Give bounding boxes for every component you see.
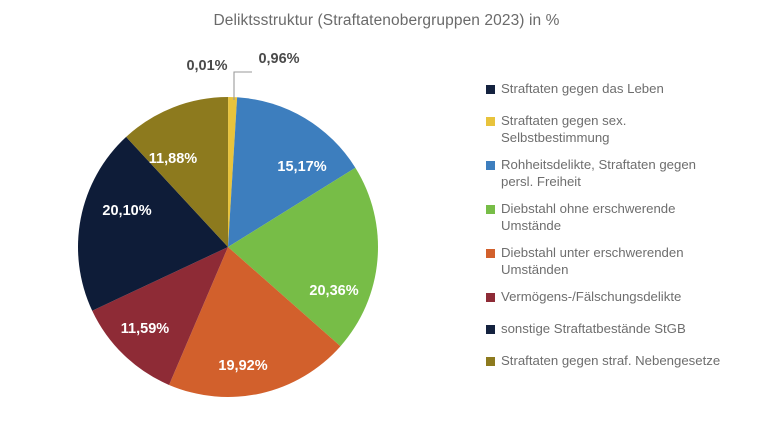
- chart-legend: Straftaten gegen das Leben Straftaten ge…: [486, 80, 771, 384]
- slice-value-label-rohheitsdelikte: 15,17%: [277, 159, 326, 175]
- legend-item[interactable]: Rohheitsdelikte, Straftaten gegen persl.…: [486, 156, 771, 190]
- legend-item-label: Straftaten gegen straf. Nebengesetze: [501, 352, 720, 369]
- legend-swatch-icon: [486, 161, 495, 170]
- pie-plot-area: 15,17% 20,36% 19,92% 11,59% 20,10% 11,88…: [28, 48, 448, 428]
- legend-swatch-icon: [486, 117, 495, 126]
- legend-item-label: Vermögens-/Fälschungsdelikte: [501, 288, 681, 305]
- chart-title: Deliktsstruktur (Straftatenobergruppen 2…: [0, 12, 773, 30]
- pie-slices: [78, 97, 378, 397]
- legend-item[interactable]: Vermögens-/Fälschungsdelikte: [486, 288, 771, 310]
- slice-value-label-vermoegens: 11,59%: [121, 321, 169, 337]
- slice-value-label-sonstige-stgb: 20,10%: [102, 203, 151, 219]
- legend-item[interactable]: Diebstahl ohne erschwerende Umstände: [486, 200, 771, 234]
- slice-value-label-diebstahl-ohne: 20,36%: [309, 283, 358, 299]
- legend-item-label: Straftaten gegen sex. Selbstbestimmung: [501, 112, 626, 146]
- slice-value-label-diebstahl-unter: 19,92%: [218, 358, 267, 374]
- legend-item[interactable]: sonstige Straftatbestände StGB: [486, 320, 771, 342]
- legend-item-label: Diebstahl unter erschwerenden Umständen: [501, 244, 684, 278]
- pie-svg: 15,17% 20,36% 19,92% 11,59% 20,10% 11,88…: [28, 48, 448, 428]
- slice-value-label-sex-selbstbestimmung: 0,96%: [258, 51, 299, 67]
- legend-swatch-icon: [486, 205, 495, 214]
- slice-value-label-nebengesetze: 11,88%: [149, 151, 197, 167]
- legend-swatch-icon: [486, 325, 495, 334]
- legend-item[interactable]: Straftaten gegen das Leben: [486, 80, 771, 102]
- legend-item-label: sonstige Straftatbestände StGB: [501, 320, 686, 337]
- legend-item-label: Diebstahl ohne erschwerende Umstände: [501, 200, 675, 234]
- legend-item-label: Straftaten gegen das Leben: [501, 80, 664, 97]
- legend-swatch-icon: [486, 293, 495, 302]
- legend-swatch-icon: [486, 85, 495, 94]
- leader-line-096: [234, 72, 252, 100]
- legend-swatch-icon: [486, 249, 495, 258]
- legend-swatch-icon: [486, 357, 495, 366]
- legend-item-label: Rohheitsdelikte, Straftaten gegen persl.…: [501, 156, 696, 190]
- slice-value-label-straftaten-gegen-das-leben: 0,01%: [186, 58, 227, 74]
- legend-item[interactable]: Straftaten gegen sex. Selbstbestimmung: [486, 112, 771, 146]
- pie-chart-figure: Deliktsstruktur (Straftatenobergruppen 2…: [0, 0, 773, 435]
- legend-item[interactable]: Diebstahl unter erschwerenden Umständen: [486, 244, 771, 278]
- legend-item[interactable]: Straftaten gegen straf. Nebengesetze: [486, 352, 771, 374]
